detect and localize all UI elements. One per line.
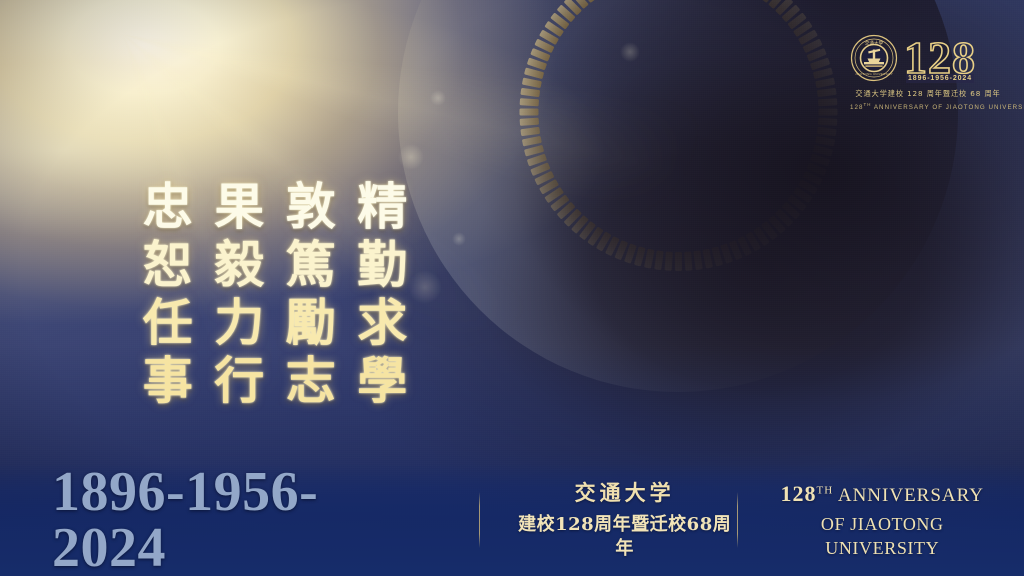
- motto-char: 任: [143, 298, 193, 348]
- motto-char: 學: [357, 356, 407, 406]
- motto-char: 敦: [286, 182, 336, 232]
- anniversary-subtitle-cn: 建校128周年暨迁校68周年: [514, 513, 736, 561]
- motto-char: 精: [357, 182, 407, 232]
- logo-year-band: 1896-1956-2024: [906, 74, 974, 83]
- motto-char: 志: [286, 356, 336, 406]
- motto-char-glyph: 志: [286, 356, 336, 406]
- motto-char-glyph: 忠: [143, 182, 193, 232]
- anniversary-number-en: 128: [780, 481, 816, 506]
- motto-char: 毅: [214, 240, 264, 290]
- motto-char: 果: [214, 182, 264, 232]
- anniversary-logo: 交通大學 JIAOTONG UNIVERSITY 128 1896-1956-2…: [850, 34, 1006, 126]
- chinese-title-block: 交通大学 建校128周年暨迁校68周年: [514, 479, 736, 560]
- logo-caption-en-rest: ANNIVERSARY OF JIAOTONG UNIVERSITY: [874, 104, 1024, 111]
- motto-char: 力: [214, 298, 264, 348]
- motto-char-glyph: 精: [357, 182, 407, 232]
- divider-1: [479, 492, 480, 548]
- anniversary-word-en: ANNIVERSARY: [838, 485, 984, 506]
- anniversary-number: 128 1896-1956-2024: [904, 35, 976, 81]
- logo-caption-en-number: 128: [850, 104, 863, 111]
- svg-text:交通大學: 交通大學: [865, 39, 884, 46]
- motto-char-glyph: 力: [214, 298, 264, 348]
- motto-char: 恕: [143, 240, 193, 290]
- motto-char-glyph: 事: [143, 356, 193, 406]
- motto-char-glyph: 恕: [143, 240, 193, 290]
- logo-caption-en-ordinal: TH: [863, 102, 871, 107]
- motto-char: 勵: [286, 298, 336, 348]
- logo-caption-en: 128TH ANNIVERSARY OF JIAOTONG UNIVERSITY: [850, 102, 1006, 111]
- motto-char-glyph: 學: [357, 356, 407, 406]
- anniversary-line-en: 128TH ANNIVERSARY: [770, 479, 994, 508]
- bottom-bar: 1896-1956-2024 交通大学 建校128周年暨迁校68周年 128TH…: [0, 464, 1024, 576]
- motto-char-glyph: 任: [143, 298, 193, 348]
- year-range: 1896-1956-2024: [52, 464, 425, 576]
- english-title-block: 128TH ANNIVERSARY OF JIAOTONG UNIVERSITY: [770, 479, 994, 561]
- university-name-en: OF JIAOTONG UNIVERSITY: [770, 513, 994, 561]
- university-name-cn: 交通大学: [514, 479, 736, 507]
- motto-char: 勤: [357, 240, 407, 290]
- motto-calligraphy: 忠果敦精恕毅篤勤任力勵求事行志學: [132, 178, 418, 410]
- divider-2: [737, 492, 738, 548]
- motto-char-glyph: 勤: [357, 240, 407, 290]
- motto-char-glyph: 毅: [214, 240, 264, 290]
- anniversary-ordinal-en: TH: [816, 485, 833, 497]
- motto-char: 忠: [143, 182, 193, 232]
- motto-char: 事: [143, 356, 193, 406]
- anniversary-poster: 忠果敦精恕毅篤勤任力勵求事行志學 交通大學 JIAOTONG UNIVERSIT…: [0, 0, 1024, 576]
- motto-char-glyph: 篤: [286, 240, 336, 290]
- motto-char-glyph: 敦: [286, 182, 336, 232]
- motto-char: 求: [357, 298, 407, 348]
- motto-char-glyph: 求: [357, 298, 407, 348]
- motto-char-glyph: 行: [214, 356, 264, 406]
- motto-char-glyph: 勵: [286, 298, 336, 348]
- svg-text:JIAOTONG UNIVERSITY: JIAOTONG UNIVERSITY: [855, 72, 893, 76]
- motto-char: 篤: [286, 240, 336, 290]
- motto-char: 行: [214, 356, 264, 406]
- university-seal-icon: 交通大學 JIAOTONG UNIVERSITY: [850, 34, 898, 82]
- motto-char-glyph: 果: [214, 182, 264, 232]
- logo-caption-cn: 交通大学建校 128 周年暨迁校 68 周年: [850, 89, 1006, 99]
